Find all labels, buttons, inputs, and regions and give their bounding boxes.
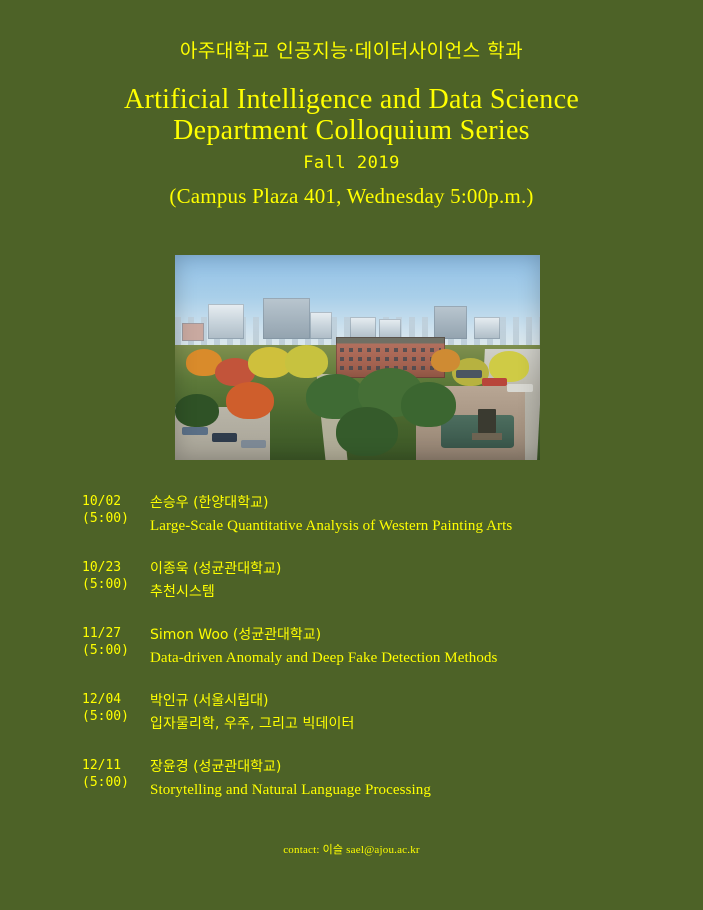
entry-date: 11/27 [82, 625, 144, 642]
entry-date: 12/04 [82, 691, 144, 708]
entry-date: 10/23 [82, 559, 144, 576]
schedule-entry: 12/04 (5:00) 박인규 (서울시립대) 입자물리학, 우주, 그리고 … [0, 691, 703, 735]
entry-speaker: 박인규 (서울시립대) [150, 691, 703, 711]
poster-venue: (Campus Plaza 401, Wednesday 5:00p.m.) [0, 184, 703, 209]
schedule-entry: 12/11 (5:00) 장윤경 (성균관대학교) Storytelling a… [0, 757, 703, 801]
entry-time: (5:00) [82, 642, 144, 659]
car-5 [507, 384, 533, 392]
tree-autumn-4 [285, 345, 329, 378]
entry-speaker: 손승우 (한양대학교) [150, 493, 703, 513]
entry-time: (5:00) [82, 708, 144, 725]
car-6 [456, 370, 482, 378]
entry-date: 12/11 [82, 757, 144, 774]
colloquium-poster: 아주대학교 인공지능·데이터사이언스 학과 Artificial Intelli… [0, 0, 703, 910]
tree-green-5 [175, 394, 219, 427]
building-tower-right [434, 306, 467, 339]
entry-talk-title: Large-Scale Quantitative Analysis of Wes… [150, 516, 703, 537]
poster-title-line-2: Department Colloquium Series [0, 115, 703, 146]
entry-date-column: 12/04 (5:00) [82, 691, 144, 725]
entry-talk-title: 입자물리학, 우주, 그리고 빅데이터 [150, 714, 703, 735]
entry-time: (5:00) [82, 774, 144, 791]
window-row-2 [340, 357, 441, 362]
entry-info: 손승우 (한양대학교) Large-Scale Quantitative Ana… [144, 493, 703, 537]
tree-green-3 [401, 382, 456, 427]
contact-line: contact: 이슬 sael@ajou.ac.kr [0, 841, 703, 857]
poster-title-block: Artificial Intelligence and Data Science… [0, 84, 703, 175]
tree-autumn-5 [226, 382, 273, 419]
entry-speaker: Simon Woo (성균관대학교) [150, 625, 703, 645]
entry-info: 장윤경 (성균관대학교) Storytelling and Natural La… [144, 757, 703, 801]
schedule-entry: 11/27 (5:00) Simon Woo (성균관대학교) Data-dri… [0, 625, 703, 669]
car-4 [482, 378, 508, 386]
campus-photo-artwork [175, 255, 540, 460]
entry-talk-title: Data-driven Anomaly and Deep Fake Detect… [150, 648, 703, 669]
entry-info: 이종욱 (성균관대학교) 추천시스템 [144, 559, 703, 603]
plaza-statue [478, 409, 496, 434]
poster-term: Fall 2019 [0, 151, 703, 175]
entry-info: Simon Woo (성균관대학교) Data-driven Anomaly a… [144, 625, 703, 669]
car-3 [241, 440, 267, 448]
department-name: 아주대학교 인공지능·데이터사이언스 학과 [0, 36, 703, 63]
entry-time: (5:00) [82, 510, 144, 527]
colloquium-schedule: 10/02 (5:00) 손승우 (한양대학교) Large-Scale Qua… [0, 493, 703, 823]
entry-date-column: 10/02 (5:00) [82, 493, 144, 527]
entry-date: 10/02 [82, 493, 144, 510]
entry-date-column: 11/27 (5:00) [82, 625, 144, 659]
tree-green-4 [336, 407, 398, 456]
building-midrise-3 [379, 319, 401, 340]
window-row-1 [340, 348, 441, 353]
entry-time: (5:00) [82, 576, 144, 593]
schedule-entry: 10/02 (5:00) 손승우 (한양대학교) Large-Scale Qua… [0, 493, 703, 537]
building-midrise-1 [310, 312, 332, 339]
building-midrise-2 [350, 317, 376, 340]
entry-speaker: 장윤경 (성균관대학교) [150, 757, 703, 777]
car-2 [212, 433, 238, 441]
entry-talk-title: 추천시스템 [150, 582, 703, 603]
entry-date-column: 12/11 (5:00) [82, 757, 144, 791]
building-apartment-left [208, 304, 245, 339]
campus-photo [175, 255, 540, 460]
building-apartment-center [263, 298, 310, 339]
tree-autumn-8 [431, 349, 460, 372]
poster-title-line-1: Artificial Intelligence and Data Science [0, 84, 703, 115]
car-1 [182, 427, 208, 435]
schedule-entry: 10/23 (5:00) 이종욱 (성균관대학교) 추천시스템 [0, 559, 703, 603]
building-brick-far-left [182, 323, 204, 341]
entry-speaker: 이종욱 (성균관대학교) [150, 559, 703, 579]
entry-date-column: 10/23 (5:00) [82, 559, 144, 593]
building-midrise-4 [474, 317, 500, 340]
entry-talk-title: Storytelling and Natural Language Proces… [150, 780, 703, 801]
entry-info: 박인규 (서울시립대) 입자물리학, 우주, 그리고 빅데이터 [144, 691, 703, 735]
